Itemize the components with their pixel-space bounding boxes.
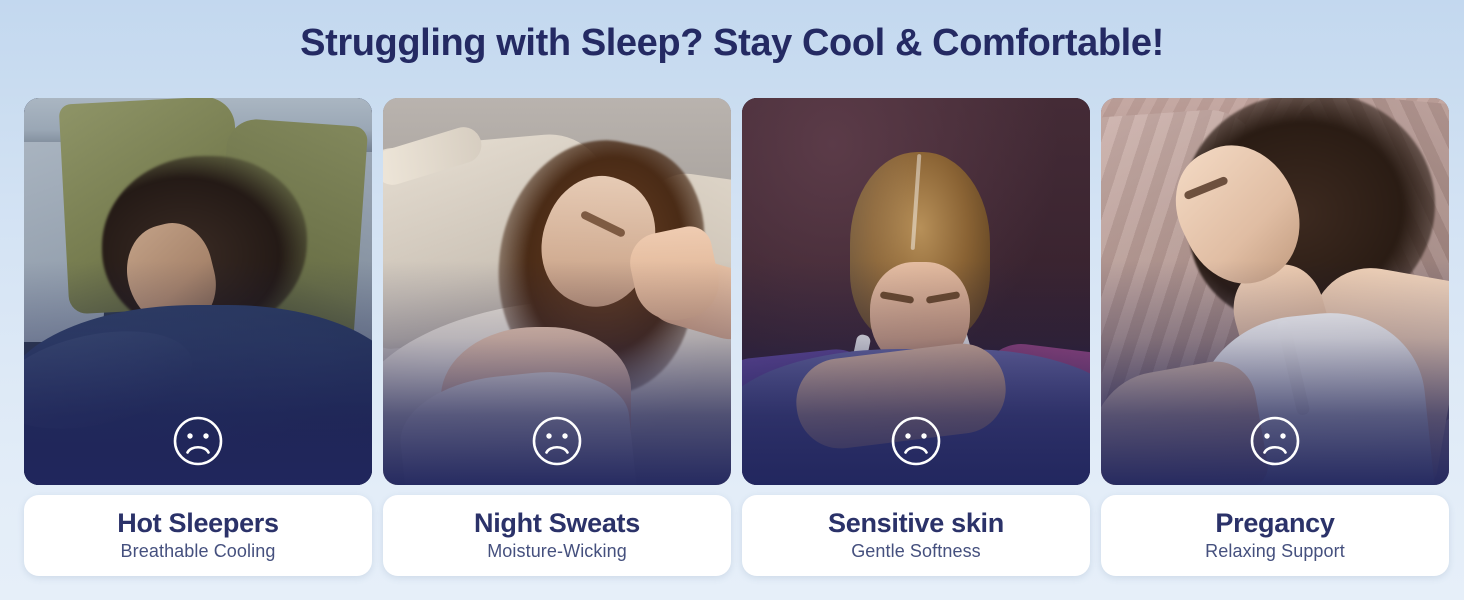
card-subtitle: Gentle Softness bbox=[851, 542, 981, 562]
card-photo-night-sweats bbox=[383, 98, 731, 485]
feature-card-pregnancy[interactable]: Pregancy Relaxing Support bbox=[1101, 98, 1449, 576]
page-title: Struggling with Sleep? Stay Cool & Comfo… bbox=[0, 22, 1464, 65]
card-title: Pregancy bbox=[1215, 509, 1334, 539]
card-subtitle: Moisture-Wicking bbox=[487, 542, 627, 562]
card-title: Night Sweats bbox=[474, 509, 640, 539]
feature-card-hot-sleepers[interactable]: Hot Sleepers Breathable Cooling bbox=[24, 98, 372, 576]
card-photo-sensitive-skin bbox=[742, 98, 1090, 485]
card-label-night-sweats: Night Sweats Moisture-Wicking bbox=[383, 495, 731, 576]
sad-face-icon bbox=[1249, 415, 1301, 467]
card-label-hot-sleepers: Hot Sleepers Breathable Cooling bbox=[24, 495, 372, 576]
card-label-sensitive-skin: Sensitive skin Gentle Softness bbox=[742, 495, 1090, 576]
card-subtitle: Breathable Cooling bbox=[121, 542, 276, 562]
sad-face-icon bbox=[531, 415, 583, 467]
feature-card-row: Hot Sleepers Breathable Cooling bbox=[24, 98, 1440, 576]
card-title: Hot Sleepers bbox=[117, 509, 278, 539]
card-photo-hot-sleepers bbox=[24, 98, 372, 485]
card-photo-pregnancy bbox=[1101, 98, 1449, 485]
card-subtitle: Relaxing Support bbox=[1205, 542, 1345, 562]
card-title: Sensitive skin bbox=[828, 509, 1004, 539]
card-label-pregnancy: Pregancy Relaxing Support bbox=[1101, 495, 1449, 576]
sad-face-icon bbox=[172, 415, 224, 467]
feature-card-night-sweats[interactable]: Night Sweats Moisture-Wicking bbox=[383, 98, 731, 576]
sad-face-icon bbox=[890, 415, 942, 467]
feature-card-sensitive-skin[interactable]: Sensitive skin Gentle Softness bbox=[742, 98, 1090, 576]
